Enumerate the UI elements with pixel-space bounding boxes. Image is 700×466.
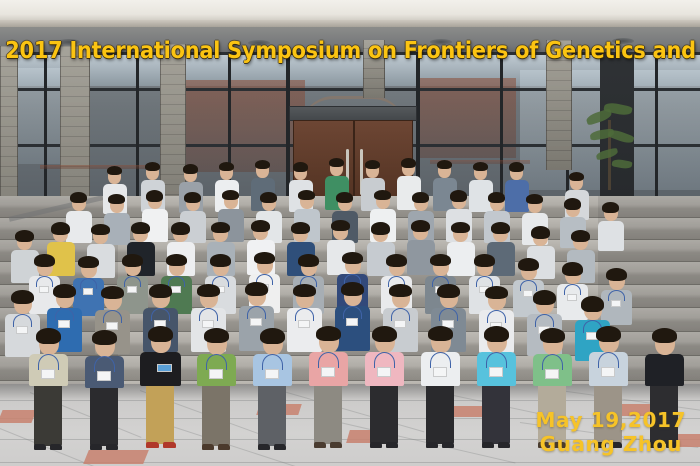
photo-title-overlay: 2017 International Symposium on Frontier… [5,36,695,64]
accent-tile [0,410,37,423]
date-line: May 19,2017 [536,408,686,432]
symposium-attendees [0,150,700,396]
door-transom [289,106,417,121]
window-mullion [0,88,700,91]
conference-group-photo: 2017 International Symposium on Frontier… [0,0,700,466]
photo-datestamp-overlay: May 19,2017 Guang Zhou [536,408,686,456]
location-line: Guang Zhou [536,432,686,456]
soffit-beam [0,20,700,27]
accent-tile [83,450,149,464]
